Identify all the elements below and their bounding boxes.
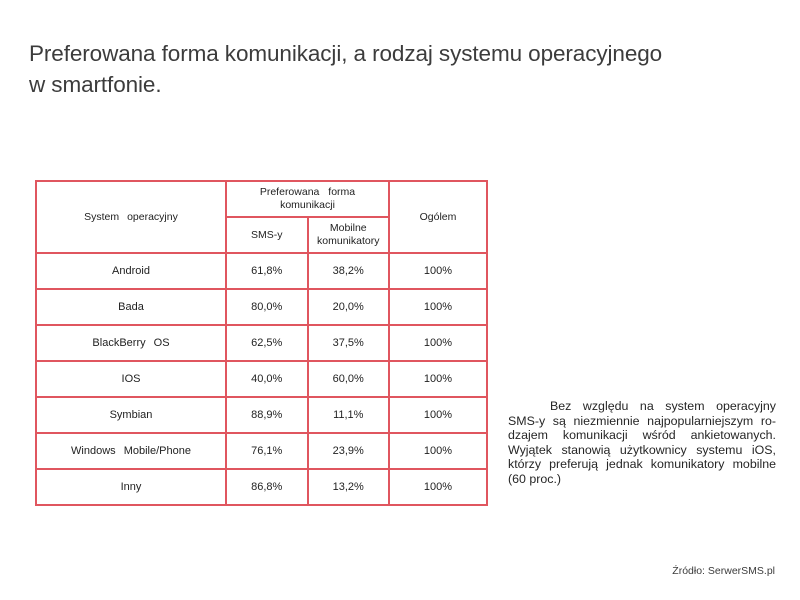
table-header-row-1: System operacyjny Preferowana forma komu… (36, 181, 487, 217)
cell-os: Bada (36, 289, 226, 325)
cell-os: Windows Mobile/Phone (36, 433, 226, 469)
cell-mobile: 13,2% (308, 469, 390, 505)
cell-total: 100% (389, 469, 487, 505)
header-ogolem: Ogólem (389, 181, 487, 253)
table-body: Android 61,8% 38,2% 100% Bada 80,0% 20,0… (36, 253, 487, 505)
table-row: Bada 80,0% 20,0% 100% (36, 289, 487, 325)
cell-sms: 80,0% (226, 289, 308, 325)
header-mobilne-komunikatory: Mobilne komunikatory (308, 217, 390, 253)
cell-total: 100% (389, 433, 487, 469)
cell-total: 100% (389, 253, 487, 289)
table-row: Android 61,8% 38,2% 100% (36, 253, 487, 289)
cell-sms: 76,1% (226, 433, 308, 469)
cell-sms: 86,8% (226, 469, 308, 505)
cell-total: 100% (389, 397, 487, 433)
cell-mobile: 37,5% (308, 325, 390, 361)
cell-mobile: 20,0% (308, 289, 390, 325)
cell-sms: 40,0% (226, 361, 308, 397)
cell-mobile: 60,0% (308, 361, 390, 397)
header-system-operacyjny: System operacyjny (36, 181, 226, 253)
cell-sms: 62,5% (226, 325, 308, 361)
source-note: Źródło: SerwerSMS.pl (672, 565, 775, 577)
cell-total: 100% (389, 289, 487, 325)
cell-os: Inny (36, 469, 226, 505)
header-preferowana-forma-komunikacji: Preferowana forma komunikacji (226, 181, 389, 217)
cell-mobile: 23,9% (308, 433, 390, 469)
cell-os: BlackBerry OS (36, 325, 226, 361)
cell-mobile: 38,2% (308, 253, 390, 289)
header-sms-y: SMS-y (226, 217, 308, 253)
communication-preference-table: System operacyjny Preferowana forma komu… (35, 180, 488, 506)
cell-os: IOS (36, 361, 226, 397)
cell-total: 100% (389, 325, 487, 361)
page-title: Preferowana forma komunikacji, a rodzaj … (29, 38, 774, 100)
table-row: Symbian 88,9% 11,1% 100% (36, 397, 487, 433)
table-row: BlackBerry OS 62,5% 37,5% 100% (36, 325, 487, 361)
cell-mobile: 11,1% (308, 397, 390, 433)
cell-sms: 88,9% (226, 397, 308, 433)
cell-os: Symbian (36, 397, 226, 433)
table-row: IOS 40,0% 60,0% 100% (36, 361, 487, 397)
cell-os: Android (36, 253, 226, 289)
table-header: System operacyjny Preferowana forma komu… (36, 181, 487, 253)
table-row: Inny 86,8% 13,2% 100% (36, 469, 487, 505)
cell-sms: 61,8% (226, 253, 308, 289)
cell-total: 100% (389, 361, 487, 397)
table-row: Windows Mobile/Phone 76,1% 23,9% 100% (36, 433, 487, 469)
commentary-paragraph: Bez względu na system operacyjny SMS-y s… (508, 399, 776, 487)
